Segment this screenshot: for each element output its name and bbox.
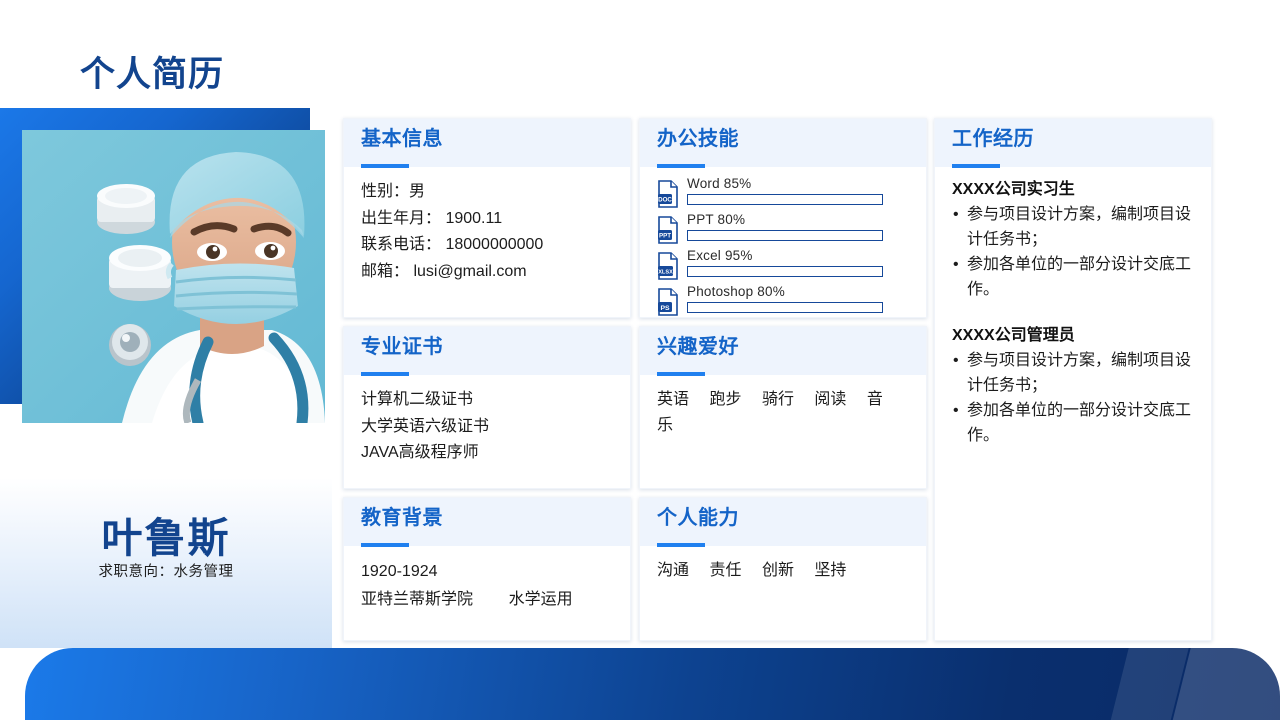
card-title-basic-info: 基本信息 [361, 126, 630, 152]
card-body-certificates: 计算机二级证书 大学英语六级证书 JAVA高级程序师 [344, 375, 630, 477]
skill-progress-bar [687, 194, 883, 205]
header-underline [361, 372, 409, 376]
left-column: 叶鲁斯 求职意向：水务管理 [0, 108, 332, 648]
education-school: 亚特兰蒂斯学院 水学运用 [361, 586, 613, 614]
xlsx-file-icon: XLSX [657, 252, 679, 280]
card-header-hobbies: 兴趣爱好 [640, 327, 926, 375]
card-header-certificates: 专业证书 [344, 327, 630, 375]
card-body-hobbies: 英语 跑步 骑行 阅读 音乐 [640, 375, 926, 449]
education-years: 1920-1924 [361, 558, 613, 586]
card-header-basic-info: 基本信息 [344, 119, 630, 167]
header-underline [657, 372, 705, 376]
card-title-work-experience: 工作经历 [952, 126, 1211, 152]
ability-tag: 坚持 [814, 562, 846, 579]
hobby-tag: 骑行 [762, 391, 794, 408]
job-objective: 求职意向：水务管理 [0, 560, 332, 581]
ps-file-icon: PS [657, 288, 679, 316]
card-title-office-skills: 办公技能 [657, 126, 926, 152]
ability-tag: 创新 [762, 562, 794, 579]
card-body-abilities: 沟通 责任 创新 坚持 [640, 546, 926, 594]
card-title-education: 教育背景 [361, 505, 630, 531]
header-underline [952, 164, 1000, 168]
certificate-item: JAVA高级程序师 [361, 440, 613, 467]
job-title: XXXX公司管理员 [952, 324, 1194, 348]
info-line-birth: 出生年月： 1900.11 [361, 206, 613, 233]
certificate-item: 计算机二级证书 [361, 387, 613, 414]
skill-row: DOC Word 85% [657, 177, 909, 211]
doc-file-icon: DOC [657, 180, 679, 208]
job-entry: XXXX公司管理员 参与项目设计方案，编制项目设计任务书； 参加各单位的一部分设… [952, 324, 1194, 448]
card-header-work-experience: 工作经历 [935, 119, 1211, 167]
skill-row: PPT PPT 80% [657, 213, 909, 247]
card-title-certificates: 专业证书 [361, 334, 630, 360]
skill-row: PS Photoshop 80% [657, 285, 909, 319]
svg-text:XLSX: XLSX [658, 270, 673, 276]
hobby-tag: 跑步 [709, 391, 741, 408]
card-title-hobbies: 兴趣爱好 [657, 334, 926, 360]
skill-label: Excel 95% [687, 247, 753, 265]
job-bullet: 参加各单位的一部分设计交底工作。 [952, 252, 1194, 302]
card-body-education: 1920-1924 亚特兰蒂斯学院 水学运用 [344, 546, 630, 624]
header-underline [657, 543, 705, 547]
ability-tag: 责任 [709, 562, 741, 579]
svg-text:PPT: PPT [659, 233, 671, 240]
job-bullet: 参与项目设计方案，编制项目设计任务书； [952, 202, 1194, 252]
job-bullet: 参与项目设计方案，编制项目设计任务书； [952, 348, 1194, 398]
info-line-email: 邮箱： lusi@gmail.com [361, 259, 613, 286]
card-education: 教育背景 1920-1924 亚特兰蒂斯学院 水学运用 [343, 497, 631, 641]
card-work-experience: 工作经历 XXXX公司实习生 参与项目设计方案，编制项目设计任务书； 参加各单位… [934, 118, 1212, 641]
card-header-abilities: 个人能力 [640, 498, 926, 546]
skill-label: Photoshop 80% [687, 283, 785, 301]
hobby-tag: 阅读 [814, 391, 846, 408]
job-entry: XXXX公司实习生 参与项目设计方案，编制项目设计任务书； 参加各单位的一部分设… [952, 178, 1194, 302]
job-bullet: 参加各单位的一部分设计交底工作。 [952, 398, 1194, 448]
ppt-file-icon: PPT [657, 216, 679, 244]
skill-progress-bar [687, 302, 883, 313]
card-abilities: 个人能力 沟通 责任 创新 坚持 [639, 497, 927, 641]
hobby-tag: 英语 [657, 391, 689, 408]
card-body-office-skills: DOC Word 85% PPT PPT 80% [640, 167, 926, 331]
svg-text:PS: PS [660, 305, 670, 312]
card-basic-info: 基本信息 性别：男 出生年月： 1900.11 联系电话： 1800000000… [343, 118, 631, 318]
ability-tag: 沟通 [657, 562, 689, 579]
hobby-tag-row: 英语 跑步 骑行 阅读 音乐 [657, 387, 909, 439]
header-underline [361, 164, 409, 168]
name-panel: 叶鲁斯 求职意向：水务管理 [0, 478, 332, 648]
header-underline [361, 543, 409, 547]
card-title-abilities: 个人能力 [657, 505, 926, 531]
skill-progress-bar [687, 230, 883, 241]
job-title: XXXX公司实习生 [952, 178, 1194, 202]
card-body-basic-info: 性别：男 出生年月： 1900.11 联系电话： 18000000000 邮箱：… [344, 167, 630, 295]
ability-tag-row: 沟通 责任 创新 坚持 [657, 558, 909, 584]
info-line-phone: 联系电话： 18000000000 [361, 232, 613, 259]
card-header-office-skills: 办公技能 [640, 119, 926, 167]
card-header-education: 教育背景 [344, 498, 630, 546]
skill-label: Word 85% [687, 175, 751, 193]
page-title: 个人简历 [80, 56, 224, 95]
skill-label: PPT 80% [687, 211, 745, 229]
card-office-skills: 办公技能 DOC Word 85% [639, 118, 927, 318]
card-certificates: 专业证书 计算机二级证书 大学英语六级证书 JAVA高级程序师 [343, 326, 631, 489]
svg-text:DOC: DOC [658, 197, 672, 204]
certificate-item: 大学英语六级证书 [361, 414, 613, 441]
job-spacer [952, 302, 1194, 322]
header-underline [657, 164, 705, 168]
person-name: 叶鲁斯 [0, 504, 332, 564]
skill-row: XLSX Excel 95% [657, 249, 909, 283]
profile-photo [22, 130, 325, 423]
skill-progress-bar [687, 266, 883, 277]
card-body-work-experience: XXXX公司实习生 参与项目设计方案，编制项目设计任务书； 参加各单位的一部分设… [935, 167, 1211, 458]
bottom-decoration-band [25, 648, 1280, 720]
card-hobbies: 兴趣爱好 英语 跑步 骑行 阅读 音乐 [639, 326, 927, 489]
resume-slide: 个人简历 [0, 0, 1280, 720]
info-line-gender: 性别：男 [361, 179, 613, 206]
